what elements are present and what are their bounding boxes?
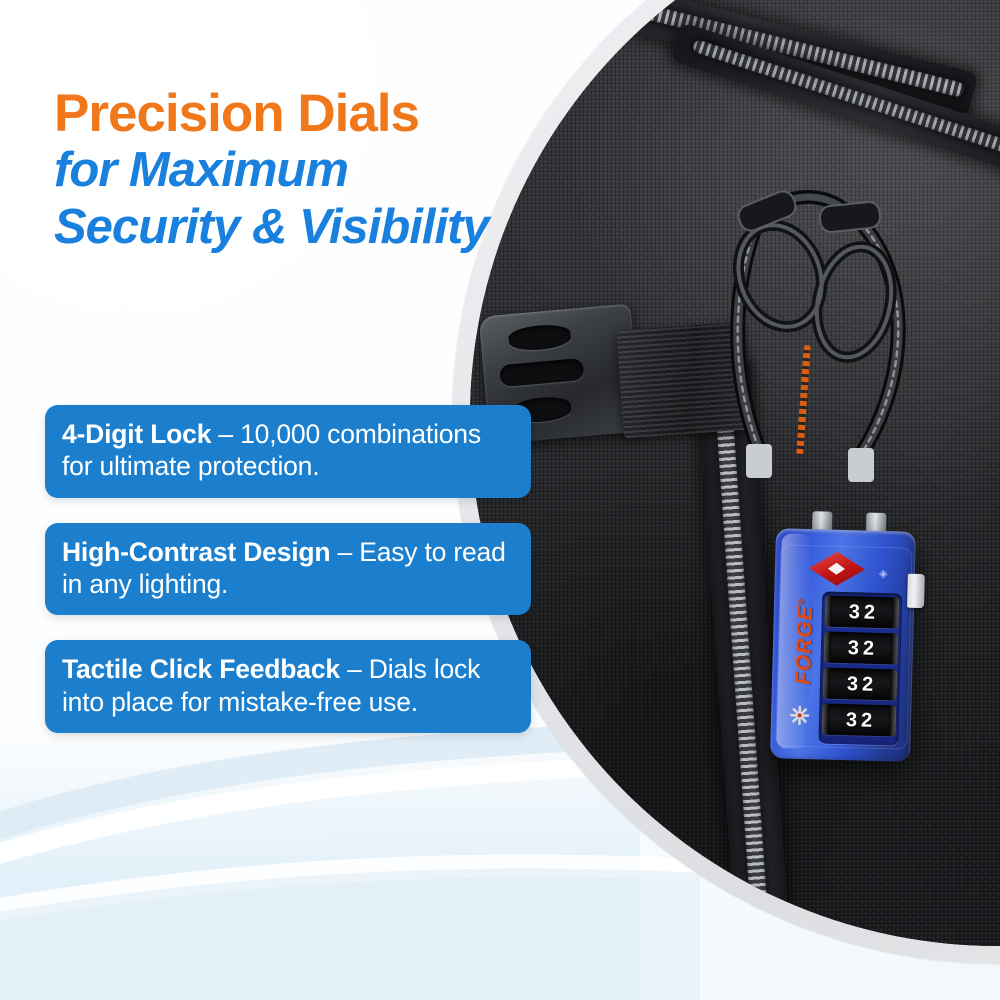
dial-row[interactable]: 3 2 bbox=[824, 596, 899, 629]
dial-digit: 2 bbox=[861, 710, 873, 730]
combination-dials[interactable]: 3 2 3 2 3 2 bbox=[818, 591, 902, 745]
dial-digit: 3 bbox=[846, 710, 858, 730]
dial-digit: 3 bbox=[848, 602, 860, 622]
dial-digit: 2 bbox=[862, 674, 874, 694]
product-feature-graphic: ◈ FORGE® bbox=[0, 0, 1000, 1000]
callout-4-digit-lock: 4-Digit Lock – 10,000 combinations for u… bbox=[45, 405, 531, 498]
dial-row[interactable]: 3 2 bbox=[823, 667, 898, 700]
dial-digit: 3 bbox=[847, 674, 859, 694]
callout-title: High-Contrast Design bbox=[62, 537, 330, 567]
brand-logo: FORGE® bbox=[792, 569, 819, 686]
feature-callout-list: 4-Digit Lock – 10,000 combinations for u… bbox=[45, 405, 531, 733]
headline-line-2: for Maximum bbox=[54, 145, 614, 196]
dial-digit: 2 bbox=[864, 602, 876, 622]
dial-digit: 3 bbox=[848, 638, 860, 658]
callout-title: Tactile Click Feedback bbox=[62, 654, 340, 684]
dial-digit: 2 bbox=[863, 638, 875, 658]
callout-tactile-click-feedback: Tactile Click Feedback – Dials lock into… bbox=[45, 640, 531, 733]
brand-emblem-icon bbox=[789, 705, 811, 727]
callout-high-contrast-design: High-Contrast Design – Easy to read in a… bbox=[45, 523, 531, 616]
release-tab bbox=[907, 574, 925, 608]
headline-block: Precision Dials for Maximum Security & V… bbox=[54, 86, 614, 253]
inspection-indicator-icon: ◈ bbox=[876, 567, 891, 582]
brand-name: FORGE® bbox=[792, 597, 817, 685]
headline-line-3: Security & Visibility bbox=[54, 202, 614, 253]
dial-row[interactable]: 3 2 bbox=[822, 703, 897, 736]
tsa-padlock: ◈ FORGE® bbox=[770, 528, 916, 762]
headline-line-1: Precision Dials bbox=[54, 86, 614, 141]
callout-title: 4-Digit Lock bbox=[62, 419, 211, 449]
dial-row[interactable]: 3 2 bbox=[824, 632, 899, 665]
cable-shackle bbox=[702, 190, 1000, 490]
